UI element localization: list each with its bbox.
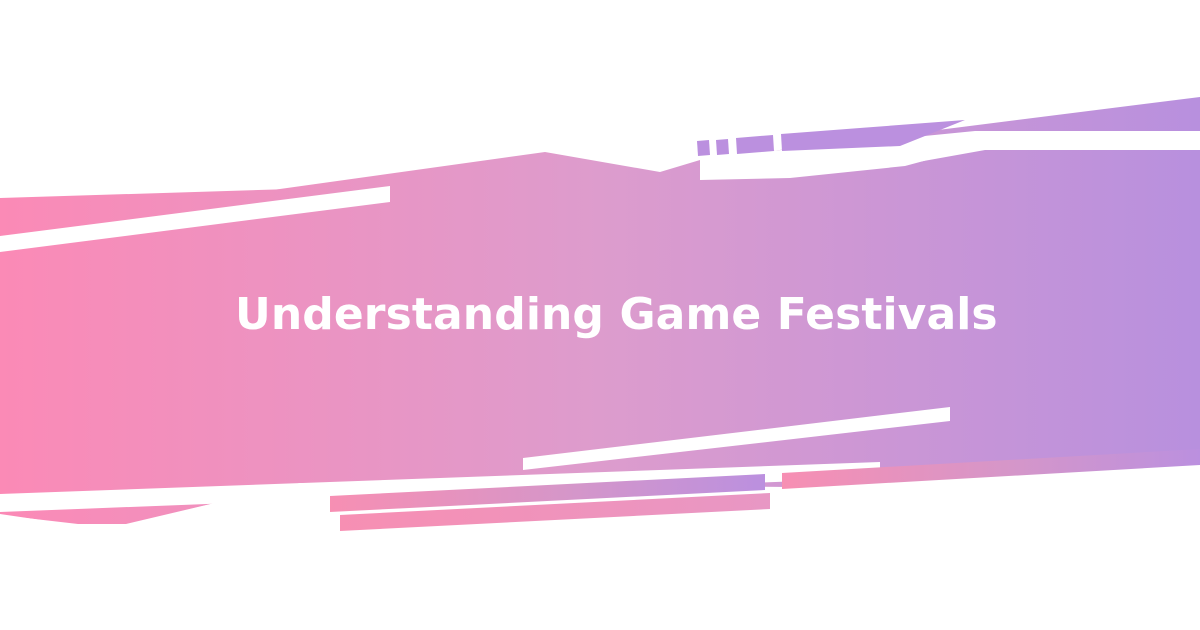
decorative-banner-artwork: [0, 0, 1200, 630]
banner-card: Understanding Game Festivals: [0, 0, 1200, 630]
dash-segment-3: [736, 135, 774, 154]
dash-square-2: [716, 139, 729, 155]
dash-square-1: [697, 140, 710, 156]
